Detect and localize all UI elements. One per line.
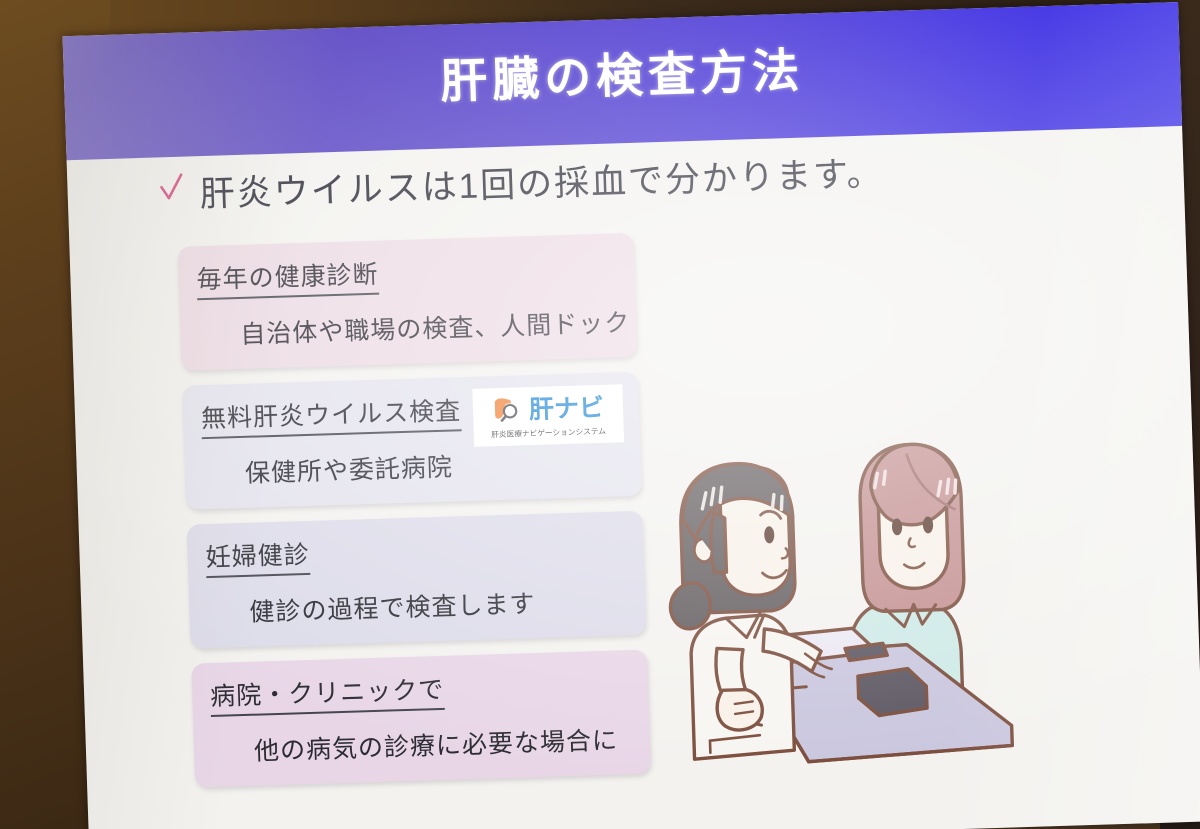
examination-route-list: 毎年の健康診断 自治体や職場の検査、人間ドック 無料肝炎ウイルス検査 肝ナビ — [177, 233, 651, 803]
card-title: 毎年の健康診断 — [196, 255, 379, 301]
card-title: 無料肝炎ウイルス検査 — [201, 391, 462, 439]
card-title: 病院・クリニックで — [210, 670, 445, 717]
slide-title: 肝臓の検査方法 — [63, 20, 1181, 123]
blood-draw-illustration-svg — [662, 425, 1030, 808]
slide-subtitle: 肝炎ウイルスは1回の採血で分かります。 — [199, 145, 884, 217]
list-item[interactable]: 病院・クリニックで 他の病気の診療に必要な場合に — [191, 650, 651, 788]
card-body: 自治体や職場の検査、人間ドック — [198, 303, 619, 352]
list-item[interactable]: 妊婦健診 健診の過程で検査します — [187, 511, 647, 649]
check-icon — [159, 173, 184, 204]
presentation-slide: 肝臓の検査方法 肝炎ウイルスは1回の採血で分かります。 毎年の健康診断 自治体や… — [63, 2, 1200, 829]
card-body: 健診の過程で検査します — [207, 581, 628, 630]
list-item[interactable]: 無料肝炎ウイルス検査 肝ナビ 肝炎医療ナビゲーションシステム 保健所や委託病院 — [182, 372, 642, 510]
kannavi-logo-badge: 肝ナビ 肝炎医療ナビゲーションシステム — [472, 384, 624, 447]
projected-slide-surface: 肝臓の検査方法 肝炎ウイルスは1回の採血で分かります。 毎年の健康診断 自治体や… — [63, 2, 1200, 829]
blood-draw-illustration — [662, 425, 1030, 808]
list-item[interactable]: 毎年の健康診断 自治体や職場の検査、人間ドック — [177, 233, 637, 371]
slide-subtitle-row: 肝炎ウイルスは1回の採血で分かります。 — [159, 145, 884, 218]
liver-magnifier-icon — [492, 394, 525, 427]
card-body: 保健所や委託病院 — [202, 442, 623, 491]
kannavi-logo-subtitle: 肝炎医療ナビゲーションシステム — [491, 426, 606, 440]
card-title: 妊婦健診 — [205, 535, 310, 578]
card-body: 他の病気の診療に必要な場合に — [211, 720, 632, 769]
kannavi-wordmark: 肝ナビ — [529, 395, 605, 422]
kannavi-logo-top: 肝ナビ — [492, 392, 605, 427]
